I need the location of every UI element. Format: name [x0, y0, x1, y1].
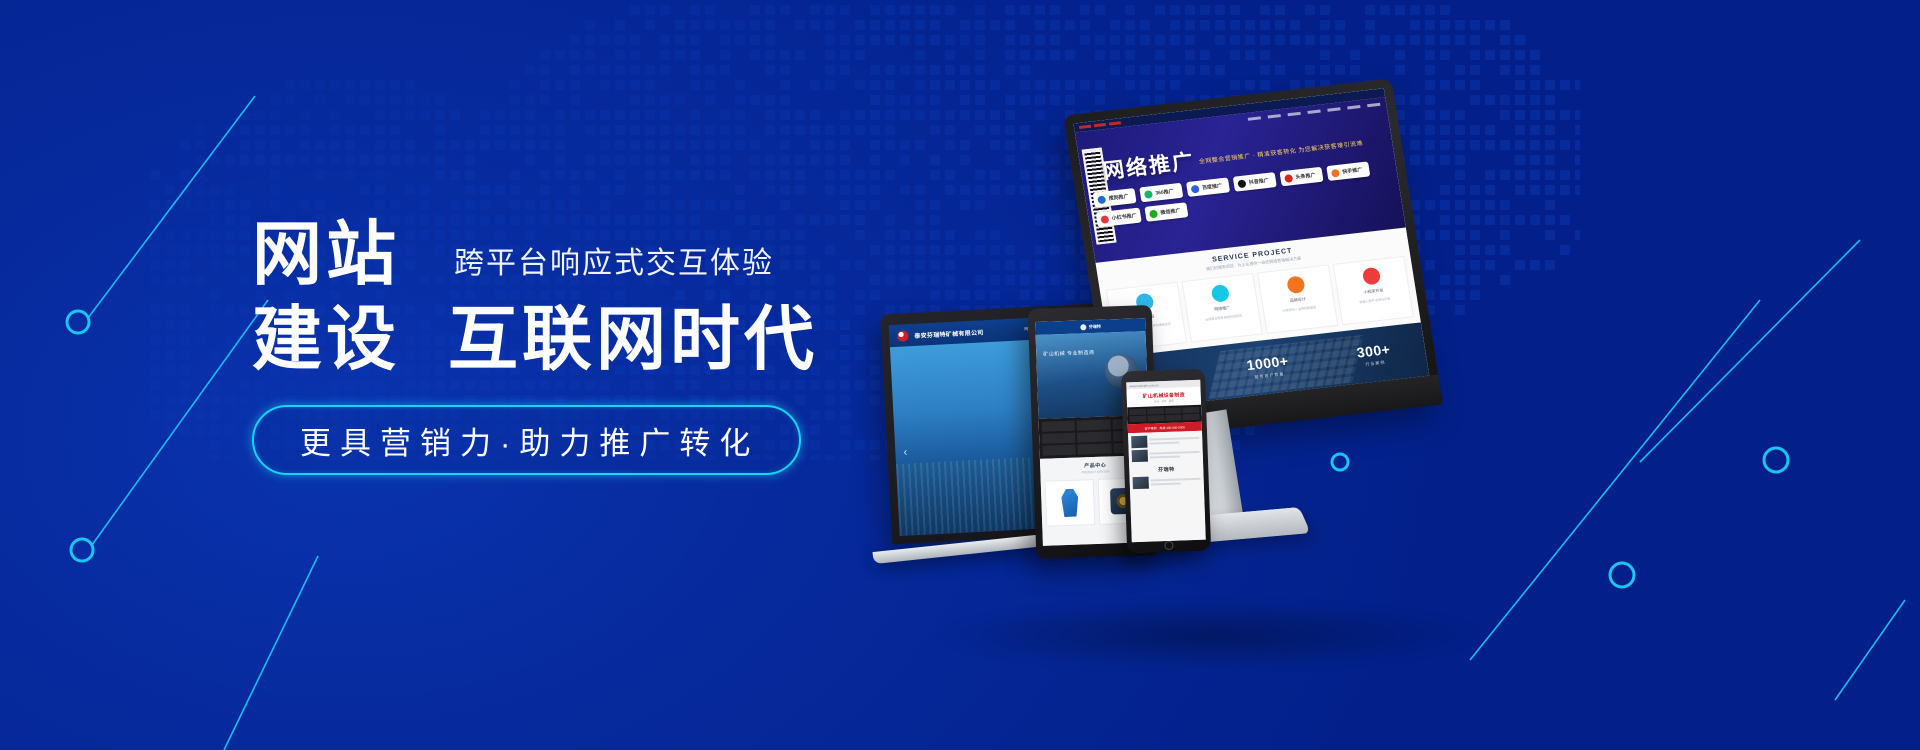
- thumbnail-image: [1133, 477, 1149, 490]
- promo-chip-label: 微信推广: [1160, 207, 1181, 216]
- list-item[interactable]: [1131, 434, 1199, 448]
- menu-tile[interactable]: [1078, 443, 1112, 454]
- monitor-hero-subtitle: 全网整合营销推广 · 精准获客转化 为您解决获客难引流难: [1198, 140, 1364, 168]
- service-card-title: 品牌设计: [1289, 296, 1306, 304]
- decor-node-circle: [71, 539, 93, 561]
- service-card-desc: VI视觉设计 品牌形象塑造: [1282, 305, 1316, 314]
- list-item[interactable]: [1133, 475, 1201, 489]
- list-item[interactable]: [1132, 448, 1200, 462]
- menu-tile[interactable]: [1165, 407, 1182, 414]
- menu-tile[interactable]: [1165, 414, 1182, 421]
- menu-tile[interactable]: [1042, 433, 1076, 444]
- carousel-prev-icon[interactable]: ‹: [903, 445, 908, 459]
- promo-chip-label: 头条推广: [1295, 171, 1316, 180]
- stat-label: 行业案例: [1358, 359, 1392, 369]
- promo-chip[interactable]: 头条推广: [1279, 167, 1323, 187]
- promo-chip[interactable]: 微信推广: [1144, 202, 1188, 222]
- phone-banner-sub: 专业 · 品质 · 服务: [1154, 398, 1174, 403]
- phone-mockup: www.example.com.cn 矿山机械设备制造 专业 · 品质 · 服务: [1121, 369, 1211, 554]
- promo-chip-label: 360推广: [1155, 188, 1174, 197]
- service-card-title: 小程序开发: [1363, 287, 1384, 295]
- menu-tile[interactable]: [1042, 421, 1076, 432]
- page-title-line2-b: 互联网时代: [448, 299, 818, 379]
- hero-banner: 网站 跨平台响应式交互体验 建设 互联网时代 更具营销力·助力推广转化 泰安芬瑞…: [0, 0, 1920, 750]
- stat-value: 300+: [1356, 341, 1392, 361]
- page-title-line1: 网站: [252, 215, 400, 293]
- decor-node-circle: [1610, 563, 1634, 587]
- promo-chip[interactable]: 快手推广: [1326, 161, 1370, 181]
- phone-hotline-text: 客户案例 · 热线 400-000-0000: [1145, 425, 1185, 430]
- promo-chip[interactable]: 抖音推广: [1233, 172, 1277, 192]
- menu-tile[interactable]: [1129, 409, 1146, 416]
- promo-chip-label: 小红书推广: [1111, 212, 1137, 222]
- decor-node-circle: [67, 311, 89, 333]
- menu-tile[interactable]: [1077, 419, 1111, 430]
- promo-chip-label: 百度推广: [1202, 182, 1223, 191]
- promo-chip[interactable]: 小红书推广: [1096, 208, 1142, 228]
- device-mockup-cluster: 泰安芬瑞特矿械有限公司 网站首页 关于我们 产品中心 新闻资讯 客户案例 联系我…: [880, 95, 1500, 655]
- stat-item: 1000+ 服务客户数量: [1245, 353, 1290, 381]
- headline-row: 网站 跨平台响应式交互体验: [252, 215, 872, 293]
- service-card[interactable]: 网络推广 全网整合营销 精准投放获客: [1181, 273, 1262, 342]
- page-title-line2-a: 建设: [252, 299, 400, 379]
- promo-chip[interactable]: 搜狗推广: [1093, 188, 1137, 208]
- promo-chip-label: 搜狗推广: [1108, 193, 1129, 202]
- product-thumb[interactable]: [1045, 479, 1096, 527]
- service-card-desc: 微信小程序 定制化开发: [1359, 297, 1390, 305]
- tagline-badge[interactable]: 更具营销力·助力推广转化: [252, 405, 801, 475]
- laptop-brand-name: 泰安芬瑞特矿械有限公司: [914, 327, 984, 340]
- tablet-hero-text: 矿山机械 专业制造商: [1043, 349, 1095, 359]
- service-card-title: 网络推广: [1214, 305, 1231, 313]
- promo-chip[interactable]: 360推广: [1139, 183, 1183, 203]
- thumbnail-image: [1131, 436, 1147, 449]
- product-image: [1057, 488, 1082, 517]
- promo-chip[interactable]: 百度推广: [1186, 177, 1230, 197]
- menu-icon[interactable]: [1080, 324, 1086, 330]
- phone-news-list: 芬瑞特: [1128, 431, 1206, 543]
- menu-tile[interactable]: [1042, 445, 1076, 456]
- menu-tile[interactable]: [1182, 407, 1199, 414]
- service-card[interactable]: 小程序开发 微信小程序 定制化开发: [1333, 256, 1414, 325]
- phone-bezel: www.example.com.cn 矿山机械设备制造 专业 · 品质 · 服务: [1121, 369, 1211, 554]
- menu-tile[interactable]: [1147, 415, 1164, 422]
- page-title-line2: 建设 互联网时代: [252, 299, 872, 379]
- service-card[interactable]: 品牌设计 VI视觉设计 品牌形象塑造: [1257, 264, 1338, 333]
- menu-tile[interactable]: [1147, 408, 1164, 415]
- hero-subtitle: 跨平台响应式交互体验: [454, 247, 774, 293]
- promo-chip-label: 抖音推广: [1248, 177, 1269, 186]
- decor-node-circle: [1764, 448, 1788, 472]
- menu-tile[interactable]: [1129, 416, 1146, 423]
- menu-tile[interactable]: [1183, 414, 1200, 421]
- tablet-brand: 芬瑞特: [1089, 323, 1101, 329]
- promo-chip-label: 快手推广: [1342, 166, 1363, 175]
- phone-screen: www.example.com.cn 矿山机械设备制造 专业 · 品质 · 服务: [1126, 380, 1206, 542]
- tagline-badge-label: 更具营销力·助力推广转化: [294, 418, 759, 463]
- hero-copy: 网站 跨平台响应式交互体验 建设 互联网时代 更具营销力·助力推广转化: [252, 215, 872, 475]
- company-logo-icon: [897, 330, 909, 342]
- thumbnail-image: [1132, 450, 1148, 463]
- monitor-hero-title: 网络推广: [1101, 145, 1197, 185]
- phone-brand: 芬瑞特: [1132, 462, 1200, 475]
- service-card-desc: 全网整合营销 精准投放获客: [1205, 314, 1242, 323]
- menu-tile[interactable]: [1077, 431, 1111, 442]
- stat-item: 300+ 行业案例: [1356, 341, 1393, 369]
